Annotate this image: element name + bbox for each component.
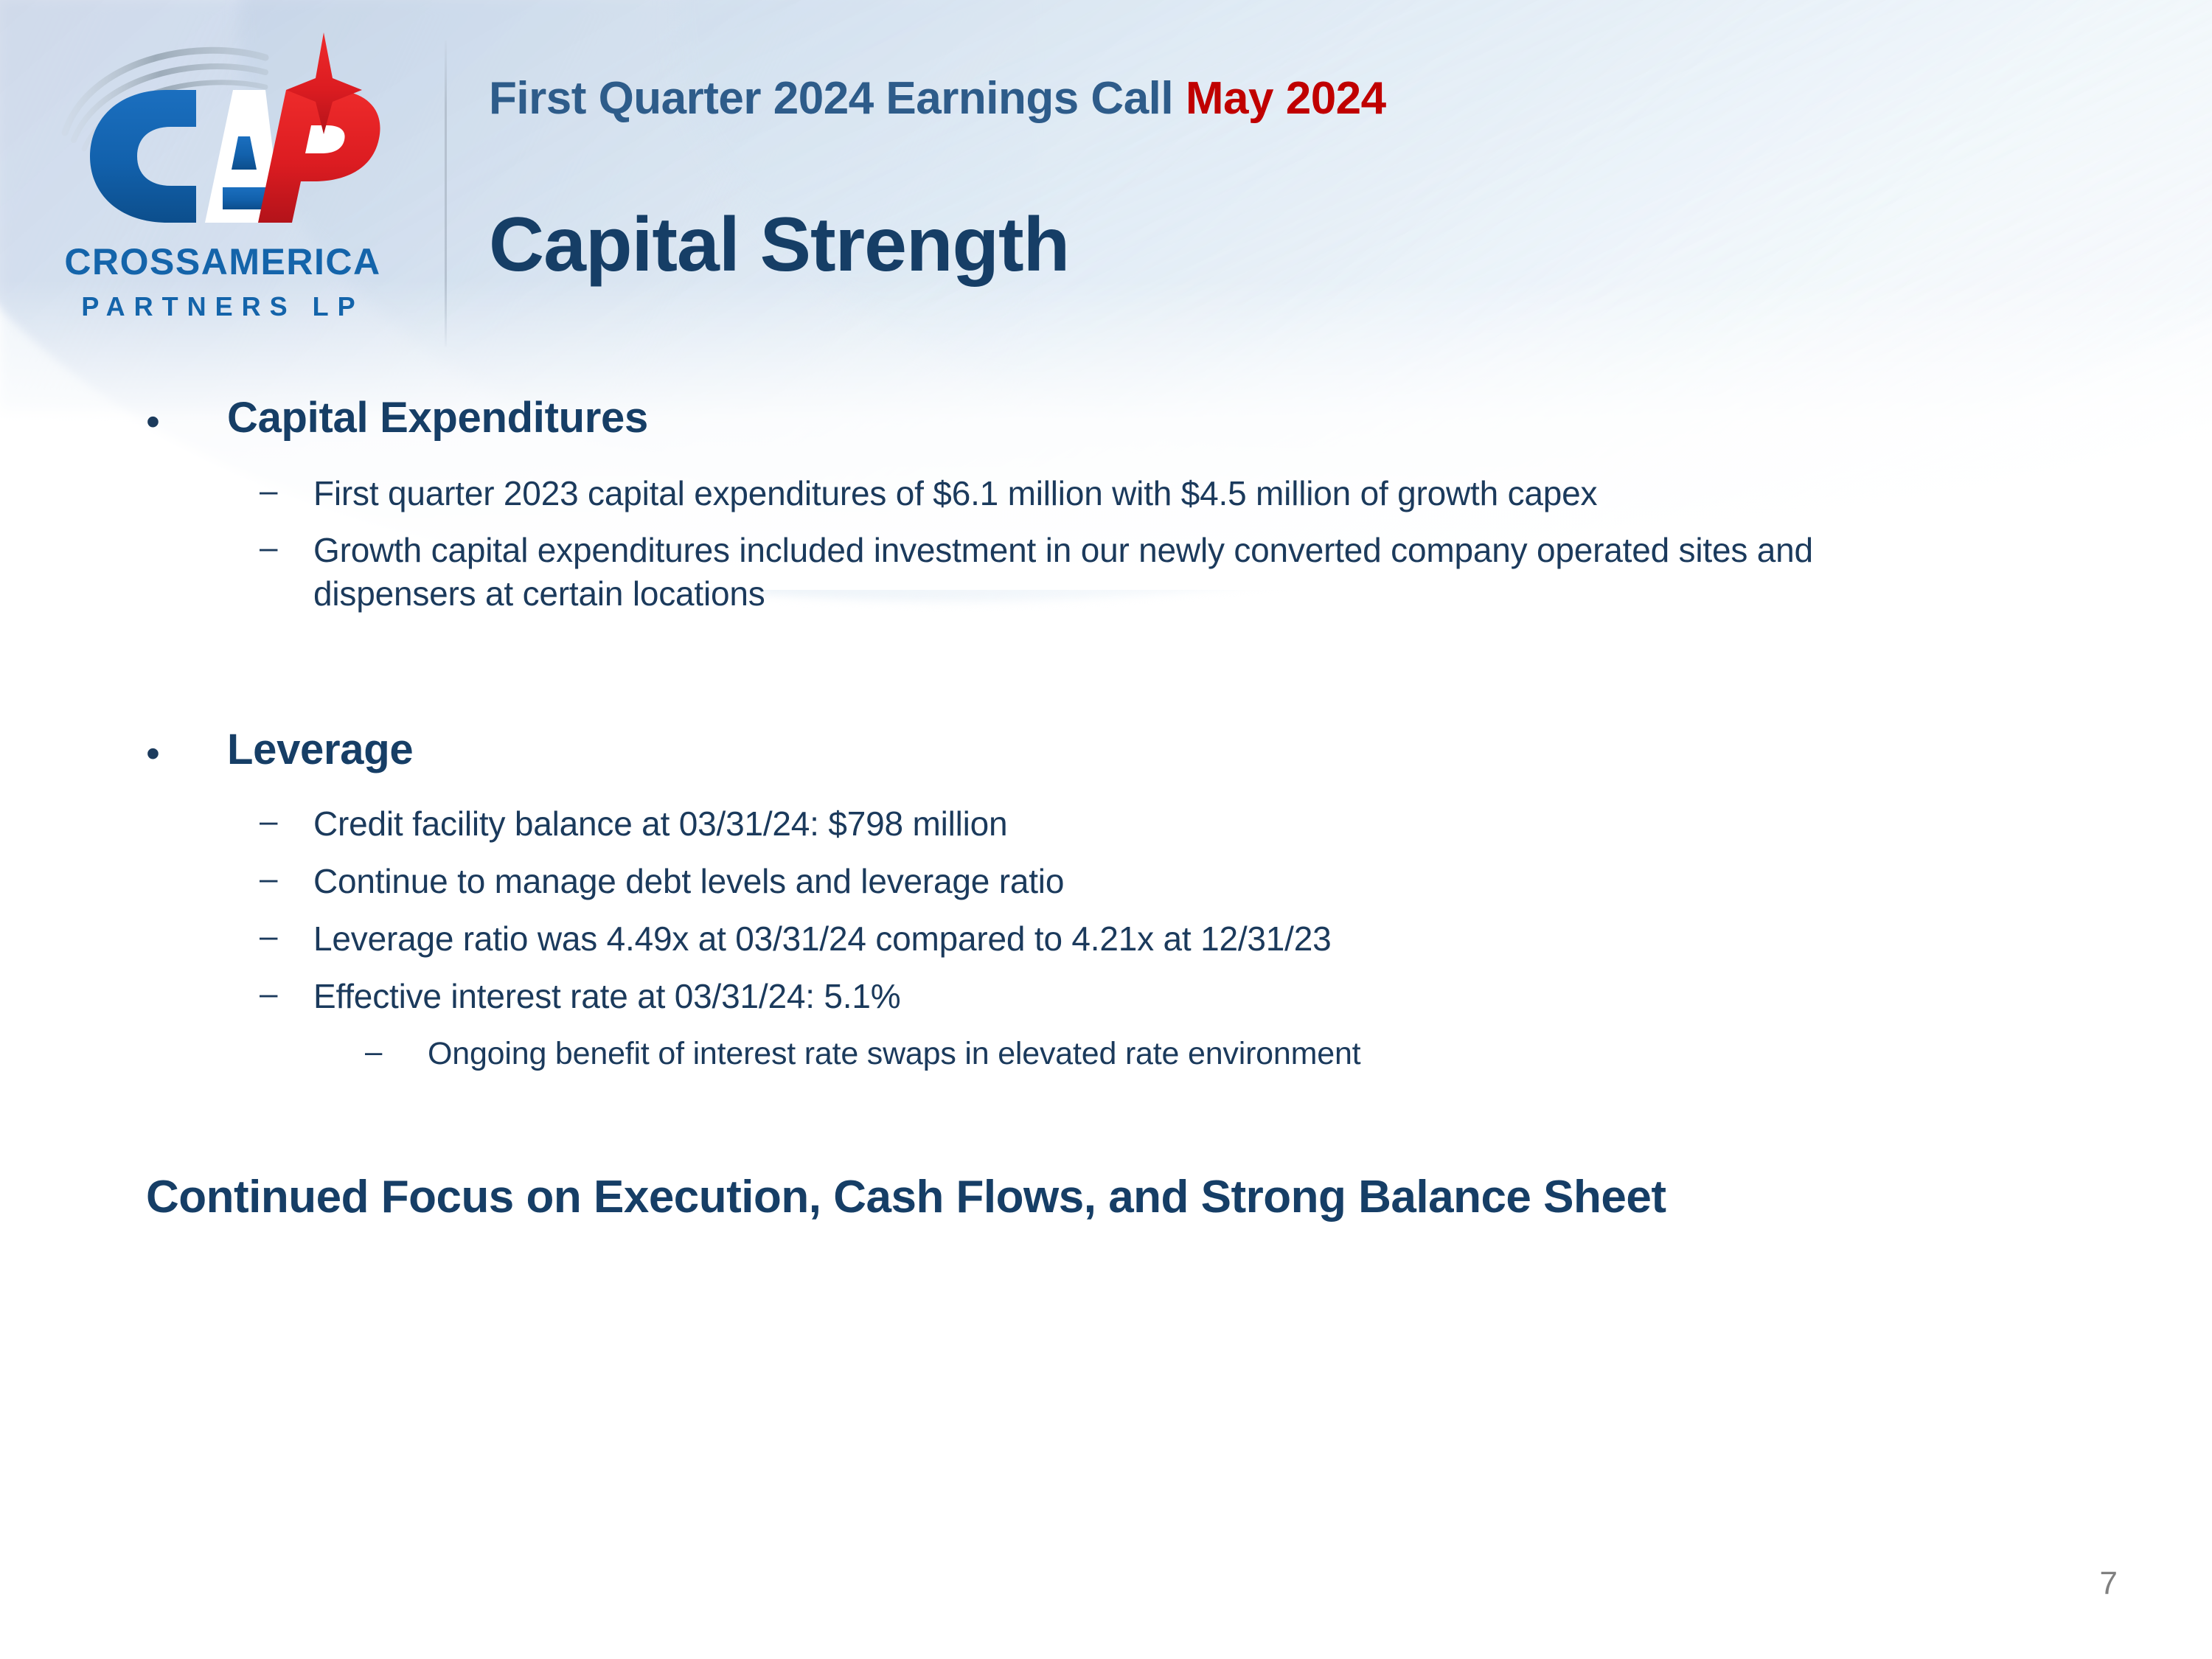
- section-heading-capital-expenditures: • Capital Expenditures: [146, 394, 648, 442]
- header-divider: [445, 41, 447, 347]
- bullet-dot-icon: •: [146, 394, 227, 442]
- logo-wordmark: CROSSAMERICA: [38, 243, 407, 280]
- company-logo: CROSSAMERICA PARTNERS LP: [22, 22, 420, 332]
- list-item: – Credit facility balance at 03/31/24: $…: [260, 802, 1955, 846]
- dash-marker-icon: –: [260, 917, 313, 953]
- dash-marker-icon: –: [260, 802, 313, 838]
- bullet-dot-icon: •: [146, 726, 227, 773]
- dash-marker-icon: –: [260, 472, 313, 507]
- list-item: – Effective interest rate at 03/31/24: 5…: [260, 975, 1955, 1018]
- dash-marker-icon: –: [365, 1034, 428, 1067]
- list-item-text: Effective interest rate at 03/31/24: 5.1…: [313, 975, 900, 1018]
- list-item: – Leverage ratio was 4.49x at 03/31/24 c…: [260, 917, 1955, 961]
- header-kicker-main: First Quarter 2024 Earnings Call: [489, 73, 1186, 124]
- section-heading-leverage: • Leverage: [146, 726, 413, 773]
- list-item: – Growth capital expenditures included i…: [260, 529, 1830, 616]
- list-item: – Continue to manage debt levels and lev…: [260, 860, 1955, 903]
- list-item-text: Credit facility balance at 03/31/24: $79…: [313, 802, 1007, 846]
- section-heading-label: Leverage: [227, 726, 413, 773]
- logo-subwordmark: PARTNERS LP: [38, 293, 407, 320]
- slide: CROSSAMERICA PARTNERS LP First Quarter 2…: [0, 0, 2212, 1659]
- page-title: Capital Strength: [489, 205, 1069, 285]
- header-kicker: First Quarter 2024 Earnings Call May 202…: [489, 72, 1386, 125]
- list-item-text: First quarter 2023 capital expenditures …: [313, 472, 1597, 515]
- header-kicker-date: May 2024: [1186, 73, 1386, 124]
- list-item-text: Continue to manage debt levels and lever…: [313, 860, 1064, 903]
- list-item-text: Leverage ratio was 4.49x at 03/31/24 com…: [313, 917, 1332, 961]
- closing-statement: Continued Focus on Execution, Cash Flows…: [146, 1171, 1666, 1223]
- list-item: – First quarter 2023 capital expenditure…: [260, 472, 1948, 515]
- section-heading-label: Capital Expenditures: [227, 394, 648, 442]
- list-item: – Ongoing benefit of interest rate swaps…: [365, 1034, 1913, 1074]
- dash-marker-icon: –: [260, 529, 313, 564]
- cap-logo-icon: [22, 22, 420, 236]
- list-item-text: Growth capital expenditures included inv…: [313, 529, 1830, 616]
- dash-marker-icon: –: [260, 860, 313, 895]
- list-item-text: Ongoing benefit of interest rate swaps i…: [428, 1034, 1360, 1074]
- dash-marker-icon: –: [260, 975, 313, 1010]
- page-number: 7: [2100, 1565, 2118, 1602]
